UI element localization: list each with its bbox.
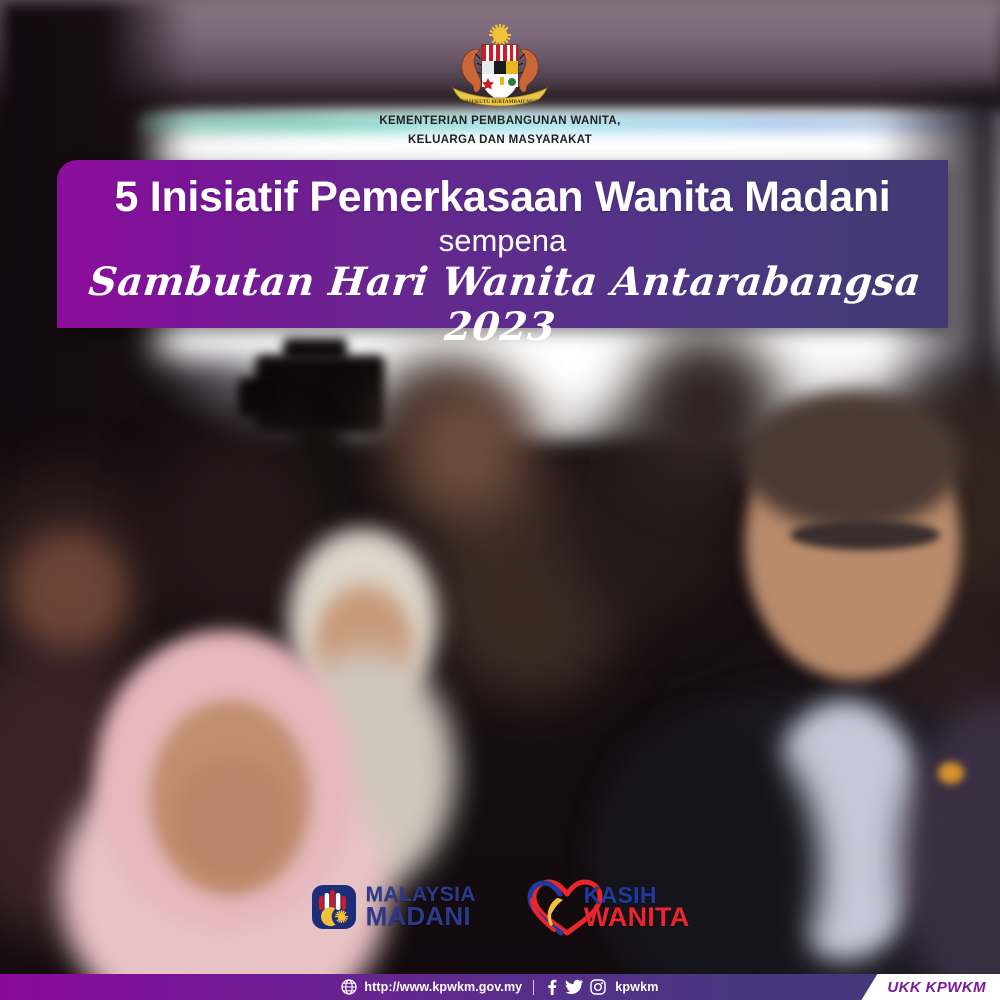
kasih-wanita-logo: KASIH WANITA [524,876,690,938]
partner-logos: MALAYSIA MADANI KASIH WANITA [0,876,1000,938]
website-url[interactable]: http://www.kpwkm.gov.my [364,980,522,994]
ministry-line-1: KEMENTERIAN PEMBANGUNAN WANITA, [0,114,1000,129]
photo-crowd-figure [10,530,130,650]
photo-man-lapel-pin [938,762,964,784]
ministry-logo-block: BERSEKUTU BERTAMBAH MUTU KEMENTERIAN PEM… [0,22,1000,148]
malaysia-madani-wordmark: MALAYSIA MADANI [366,885,476,928]
footer-bar: http://www.kpwkm.gov.my kpwkm UKK KPWKM [0,974,1000,1000]
madani-line-2: MADANI [366,905,476,929]
banner-title: 5 Inisiatif Pemerkasaan Wanita Madani [83,174,922,220]
ministry-line-2: KELUARGA DAN MASYARAKAT [0,133,1000,148]
photo-man-hair [742,390,962,530]
kasih-line-2: WANITA [584,905,690,929]
banner-event-name: Sambutan Hari Wanita Antarabangsa 2023 [78,260,926,350]
malaysia-madani-logo: MALAYSIA MADANI [311,884,476,930]
footer-contact-row: http://www.kpwkm.gov.my kpwkm [341,979,658,995]
twitter-icon[interactable] [565,979,583,995]
malaysia-coat-of-arms-icon: BERSEKUTU BERTAMBAH MUTU [425,22,575,110]
photo-camera-lens [238,378,278,418]
photo-man-glasses [790,520,940,550]
ukk-credit-label: UKK KPWKM [887,979,986,996]
globe-icon [341,979,357,995]
instagram-icon[interactable] [590,979,606,995]
photo-crowd-figure [400,380,530,520]
background-photo [0,0,1000,1000]
kasih-wanita-wordmark: KASIH WANITA [584,885,690,930]
svg-text:BERSEKUTU BERTAMBAH MUTU: BERSEKUTU BERTAMBAH MUTU [458,99,542,105]
poster-canvas: BERSEKUTU BERTAMBAH MUTU KEMENTERIAN PEM… [0,0,1000,1000]
ukk-credit-badge: UKK KPWKM [861,974,1000,1000]
social-handle[interactable]: kpwkm [615,980,658,994]
banner-subtitle: sempena [83,222,922,259]
facebook-icon[interactable] [545,979,558,995]
malaysia-madani-icon [311,884,357,930]
ministry-name: KEMENTERIAN PEMBANGUNAN WANITA, KELUARGA… [0,114,1000,148]
title-banner: 5 Inisiatif Pemerkasaan Wanita Madani se… [57,160,948,328]
footer-divider [533,980,534,995]
photo-woman-pink-hijab-cheek [175,760,290,880]
photo-man-jacket-left [600,720,820,1000]
